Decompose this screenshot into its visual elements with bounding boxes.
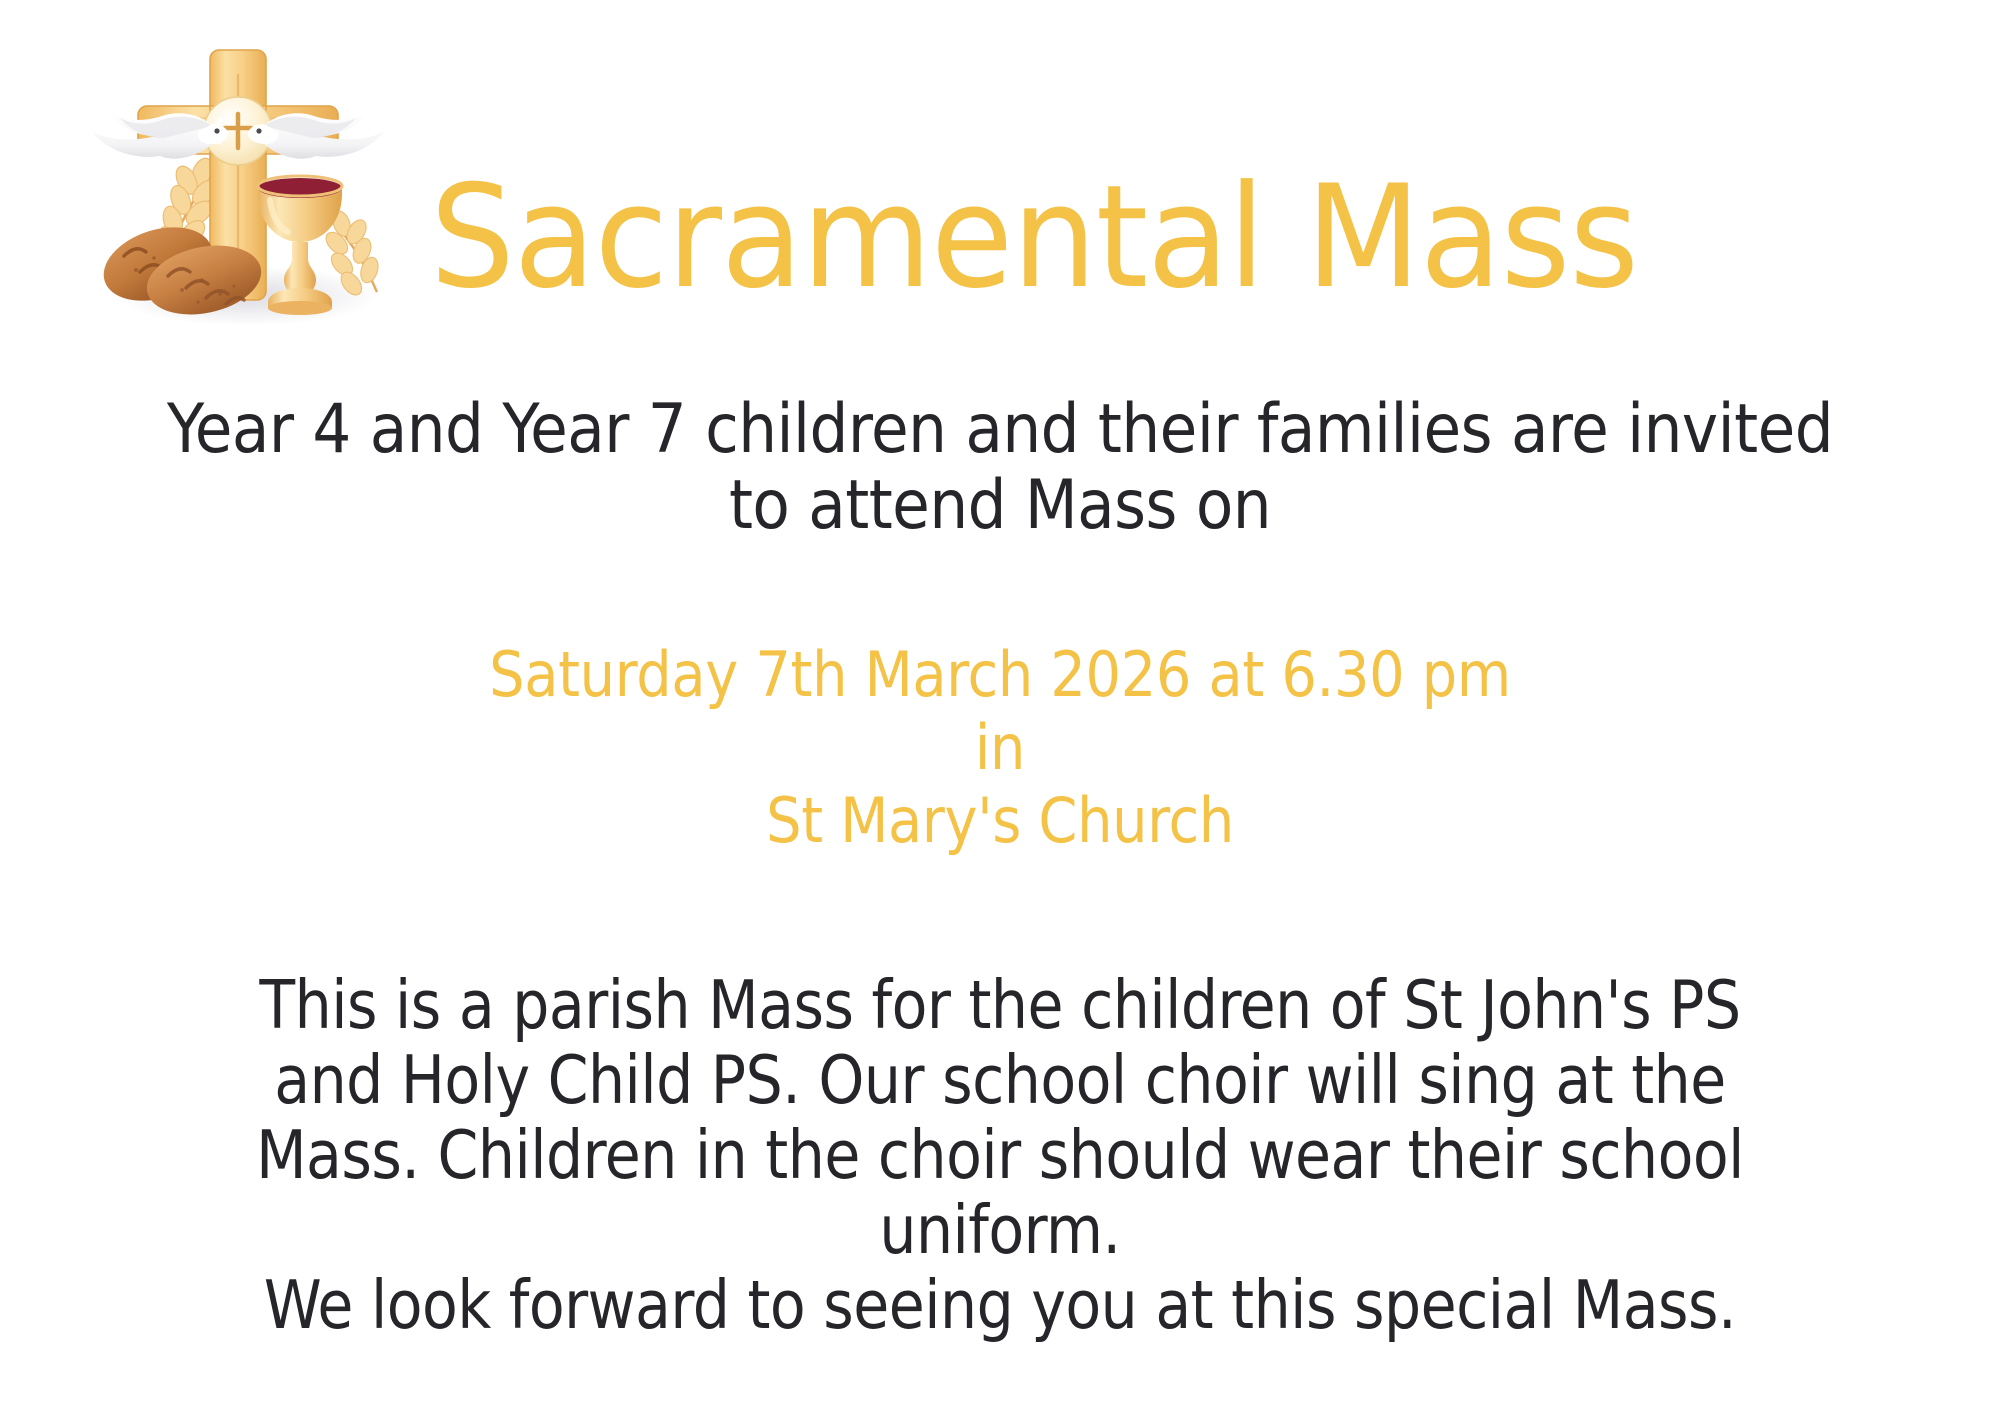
closing-line-4: uniform. — [176, 1193, 1825, 1268]
closing-line-5: We look forward to seeing you at this sp… — [176, 1268, 1825, 1343]
closing-line-1: This is a parish Mass for the children o… — [176, 968, 1825, 1043]
invitation-line-1: Year 4 and Year 7 children and their fam… — [0, 392, 2000, 468]
event-details: Saturday 7th March 2026 at 6.30 pm in St… — [0, 638, 2000, 857]
dove-eye — [214, 128, 219, 133]
event-preposition: in — [0, 711, 2000, 784]
page-title: Sacramental Mass — [430, 167, 1765, 309]
closing-line-2: and Holy Child PS. Our school choir will… — [176, 1043, 1825, 1118]
event-datetime: Saturday 7th March 2026 at 6.30 pm — [0, 638, 2000, 711]
invitation-line-2: to attend Mass on — [0, 468, 2000, 544]
closing-text: This is a parish Mass for the children o… — [0, 968, 2000, 1343]
closing-line-3: Mass. Children in the choir should wear … — [176, 1118, 1825, 1193]
invitation-text: Year 4 and Year 7 children and their fam… — [0, 392, 2000, 544]
first-communion-illustration — [62, 28, 422, 348]
poster-header: Sacramental Mass — [0, 0, 2000, 370]
sacramental-mass-poster: Sacramental Mass Year 4 and Year 7 child… — [0, 0, 2000, 1414]
event-venue: St Mary's Church — [0, 784, 2000, 857]
dove-eye — [256, 128, 261, 133]
